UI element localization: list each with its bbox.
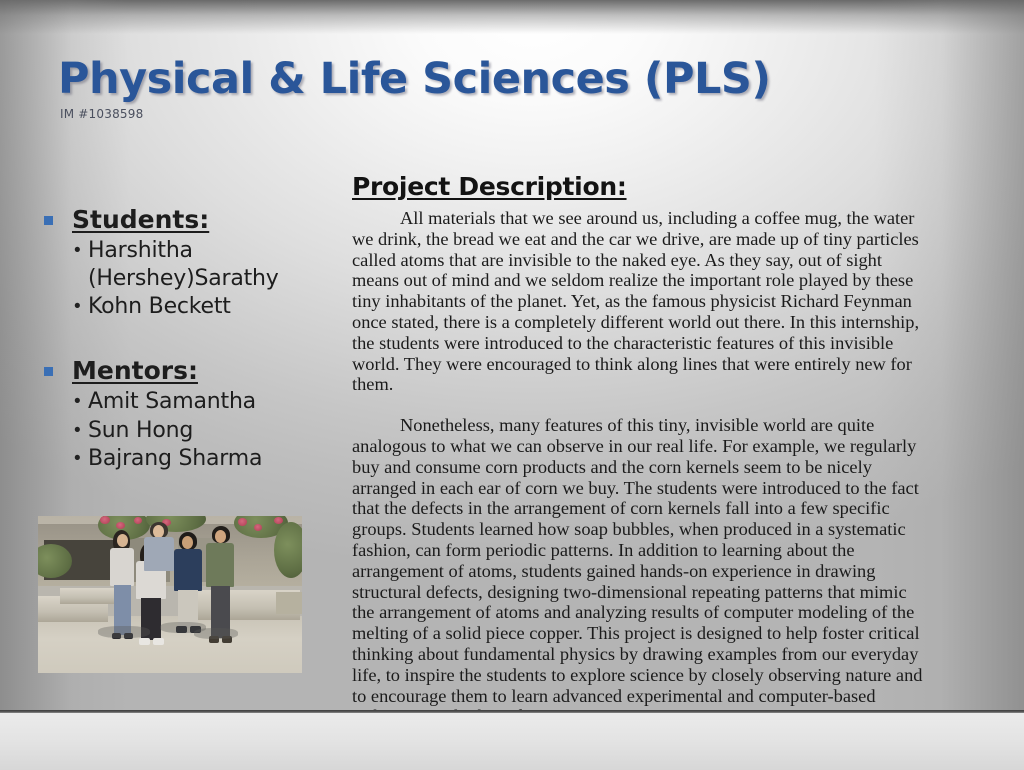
im-number-label: IM #1038598 [60, 107, 771, 121]
student-name: Kohn Beckett [88, 293, 231, 321]
left-column: Students: • Harshitha (Hershey)Sarathy •… [44, 204, 334, 481]
list-item: • Bajrang Sharma [44, 445, 334, 473]
list-item: • Amit Samantha [44, 388, 334, 416]
photo-shadow [194, 628, 238, 639]
square-bullet-icon [44, 216, 53, 225]
student-name: Harshitha (Hershey)Sarathy [88, 237, 334, 292]
dot-bullet-icon: • [74, 293, 88, 321]
photo-planter [276, 592, 302, 614]
page-title: Physical & Life Sciences (PLS) [58, 58, 771, 101]
students-list: • Harshitha (Hershey)Sarathy • Kohn Beck… [44, 237, 334, 321]
photo-blossom [238, 518, 247, 526]
mentors-heading-row: Mentors: [44, 355, 334, 386]
square-bullet-icon [44, 367, 53, 376]
mentor-name: Sun Hong [88, 417, 193, 445]
photo-blossom [254, 524, 262, 531]
dot-bullet-icon: • [74, 417, 88, 445]
mentors-heading: Mentors: [72, 355, 198, 386]
list-item: • Kohn Beckett [44, 293, 334, 321]
photo-blossom [274, 517, 283, 524]
mentor-name: Bajrang Sharma [88, 445, 262, 473]
dot-bullet-icon: • [74, 237, 88, 265]
photo-foliage [274, 522, 302, 578]
project-description-paragraph: Nonetheless, many features of this tiny,… [352, 415, 930, 727]
students-section: Students: • Harshitha (Hershey)Sarathy •… [44, 204, 334, 321]
list-item: • Sun Hong [44, 417, 334, 445]
students-heading: Students: [72, 204, 209, 235]
right-column: Project Description: All materials that … [352, 172, 930, 727]
students-heading-row: Students: [44, 204, 334, 235]
team-photo [38, 516, 302, 673]
slide-footer: Lawrence Livermore National Laboratory L… [0, 713, 1024, 770]
photo-blossom [100, 516, 110, 524]
dot-bullet-icon: • [74, 388, 88, 416]
presentation-slide: Physical & Life Sciences (PLS) IM #10385… [0, 0, 1024, 770]
project-description-heading: Project Description: [352, 172, 930, 201]
photo-blossom [116, 522, 125, 529]
dot-bullet-icon: • [74, 445, 88, 473]
photo-blossom [134, 517, 142, 524]
mentors-section: Mentors: • Amit Samantha • Sun Hong • Ba… [44, 355, 334, 473]
mentors-list: • Amit Samantha • Sun Hong • Bajrang Sha… [44, 388, 334, 473]
mentor-name: Amit Samantha [88, 388, 256, 416]
background-vignette-top [0, 0, 1024, 34]
photo-shadow [98, 626, 150, 638]
list-item: • Harshitha (Hershey)Sarathy [44, 237, 334, 292]
project-description-paragraph: All materials that we see around us, inc… [352, 208, 930, 395]
title-block: Physical & Life Sciences (PLS) IM #10385… [58, 58, 771, 121]
